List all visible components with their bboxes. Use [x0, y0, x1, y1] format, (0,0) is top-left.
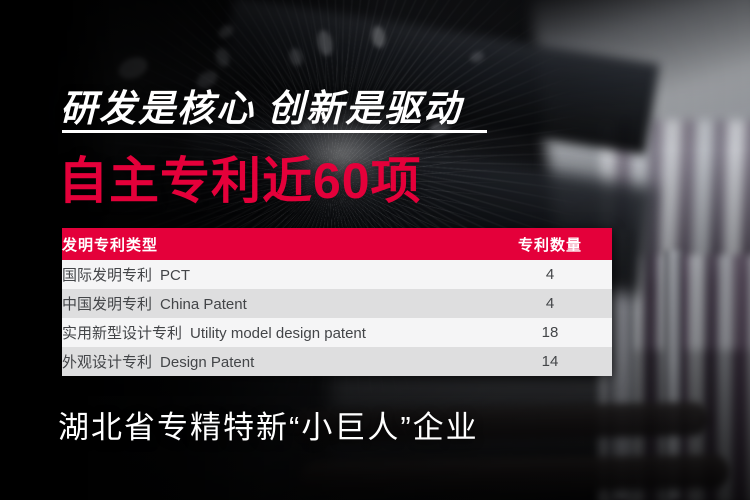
headline-divider [62, 130, 487, 133]
patent-type-en: PCT [160, 267, 190, 284]
cell-patent-type: 国际发明专利PCT [62, 260, 488, 289]
patent-type-cn: 中国发明专利 [62, 296, 152, 313]
table-header-row: 发明专利类型 专利数量 [62, 228, 612, 260]
patent-poster: 研发是核心 创新是驱动 自主专利近60项 发明专利类型 专利数量 国际发明专利P… [0, 0, 750, 500]
table-row: 中国发明专利China Patent 4 [62, 289, 612, 318]
poster-content: 研发是核心 创新是驱动 自主专利近60项 发明专利类型 专利数量 国际发明专利P… [0, 0, 750, 500]
patent-type-en: China Patent [160, 296, 247, 313]
cell-patent-type: 实用新型设计专利Utility model design patent [62, 318, 488, 347]
patent-table-head: 发明专利类型 专利数量 [62, 228, 612, 260]
patent-type-cn: 国际发明专利 [62, 267, 152, 284]
table-row: 国际发明专利PCT 4 [62, 260, 612, 289]
cell-patent-count: 4 [488, 289, 612, 318]
patent-type-en: Design Patent [160, 354, 254, 371]
cell-patent-count: 18 [488, 318, 612, 347]
patent-table-body: 国际发明专利PCT 4 中国发明专利China Patent 4 实用新型设计专… [62, 260, 612, 376]
cell-patent-count: 4 [488, 260, 612, 289]
cell-patent-type: 中国发明专利China Patent [62, 289, 488, 318]
patent-type-cn: 外观设计专利 [62, 354, 152, 371]
cell-patent-count: 14 [488, 347, 612, 376]
cell-patent-type: 外观设计专利Design Patent [62, 347, 488, 376]
patent-type-en: Utility model design patent [190, 325, 366, 342]
headline-main: 自主专利近60项 [58, 141, 422, 213]
footer-text: 湖北省专精特新“小巨人”企业 [58, 402, 479, 447]
headline-top: 研发是核心 创新是驱动 [60, 78, 462, 132]
patent-type-cn: 实用新型设计专利 [62, 325, 182, 342]
patent-table: 发明专利类型 专利数量 国际发明专利PCT 4 中国发明专利China Pate… [62, 228, 612, 376]
column-header-count: 专利数量 [488, 228, 612, 260]
column-header-type: 发明专利类型 [62, 228, 488, 260]
table-row: 实用新型设计专利Utility model design patent 18 [62, 318, 612, 347]
table-row: 外观设计专利Design Patent 14 [62, 347, 612, 376]
